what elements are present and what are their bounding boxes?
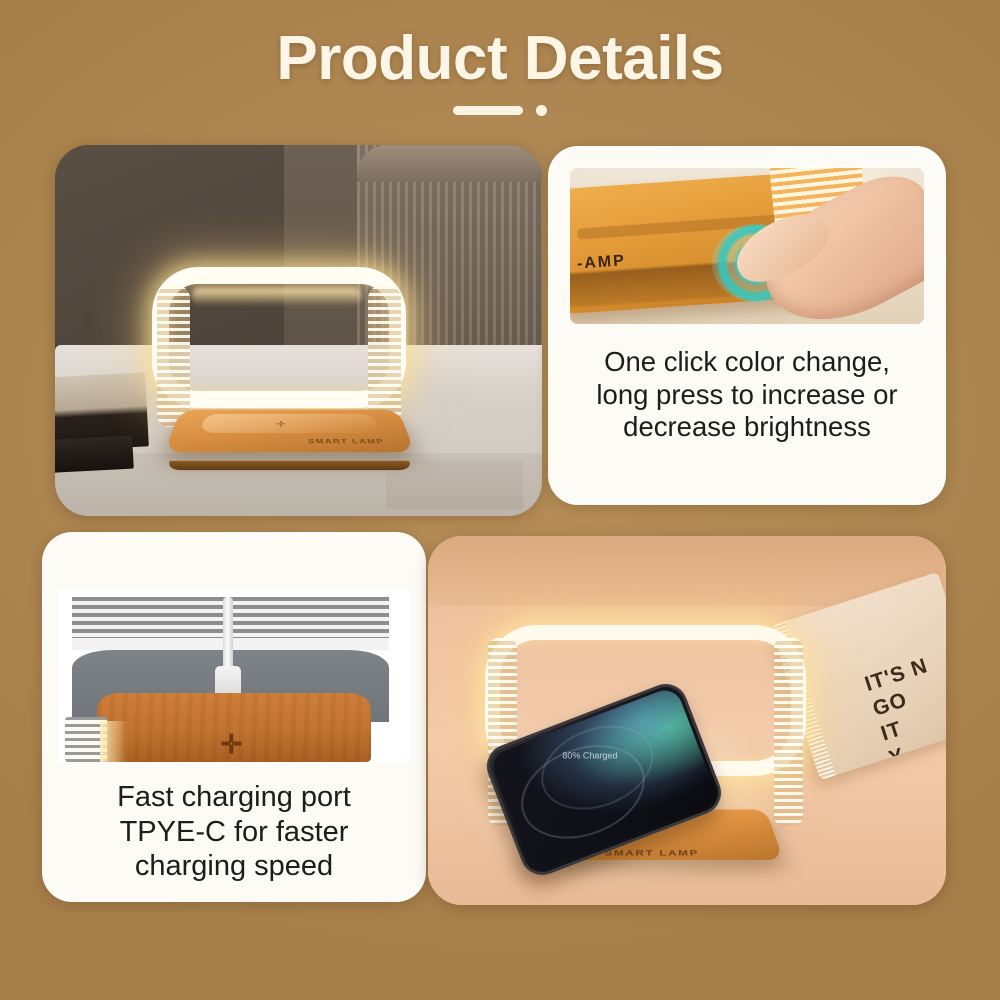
page-title: Product Details	[0, 26, 1000, 91]
base-brand-label: SMART LAMP	[307, 438, 384, 445]
charging-status-text: 80% Charged	[562, 751, 617, 761]
title-divider	[0, 105, 1000, 116]
wireless-charge-marker-icon: ✛	[220, 731, 242, 757]
touch-scene: -AMP	[570, 168, 924, 324]
touch-button-caption: One click color change, long press to in…	[548, 346, 946, 444]
headboard-top	[357, 145, 542, 182]
charging-port-inset-photo: ✛	[58, 590, 410, 762]
caption-line: long press to increase or	[560, 379, 934, 412]
lamp-fold-fins-left	[157, 286, 190, 427]
lamp-wooden-base-rear: ✛	[97, 693, 372, 762]
charging-port-feature-card: ✛ Fast charging port TPYE-C for faster c…	[42, 532, 426, 902]
charging-port-scene: ✛	[58, 590, 410, 762]
lamp-glow-highlight	[191, 287, 362, 304]
touch-button-inset-photo: -AMP	[570, 168, 924, 324]
poster-header: Product Details	[0, 26, 1000, 116]
charging-scene: IT'S N GO IT Y SMART LAMP 80% Charged	[428, 536, 946, 905]
wireless-charging-photo: IT'S N GO IT Y SMART LAMP 80% Charged	[428, 536, 946, 905]
lamp-fold-fins-right	[368, 286, 401, 427]
wireless-charge-marker-icon: ✛	[275, 421, 288, 429]
book-stack-lower	[55, 436, 134, 474]
caption-line: charging speed	[54, 849, 414, 884]
base-brand-label: SMART LAMP	[604, 849, 700, 858]
base-bottom-lip	[166, 461, 413, 470]
charging-port-caption: Fast charging port TPYE-C for faster cha…	[42, 780, 426, 884]
smart-lamp-product: SMART LAMP 80% Charged	[485, 625, 806, 854]
smart-lamp-product: ✛ SMART LAMP	[152, 267, 405, 453]
product-details-poster: Product Details ✛ SMART LAMP	[0, 0, 1000, 1000]
divider-dot-icon	[536, 105, 547, 116]
lamp-fold-fins-right	[774, 638, 803, 826]
touch-button-feature-card: -AMP One click color change, long press …	[548, 146, 946, 505]
lamp-fin-glow	[100, 721, 128, 762]
caption-line: decrease brightness	[560, 411, 934, 444]
base-highlight	[200, 415, 379, 434]
caption-line: TPYE-C for faster	[54, 815, 414, 850]
base-brand-label-partial: -AMP	[577, 252, 627, 273]
divider-dash-icon	[453, 106, 523, 115]
lamp-on-nightstand-photo: ✛ SMART LAMP	[55, 145, 542, 516]
caption-line: One click color change,	[560, 346, 934, 379]
caption-line: Fast charging port	[54, 780, 414, 815]
lamp-wooden-base: ✛ SMART LAMP	[164, 410, 415, 452]
